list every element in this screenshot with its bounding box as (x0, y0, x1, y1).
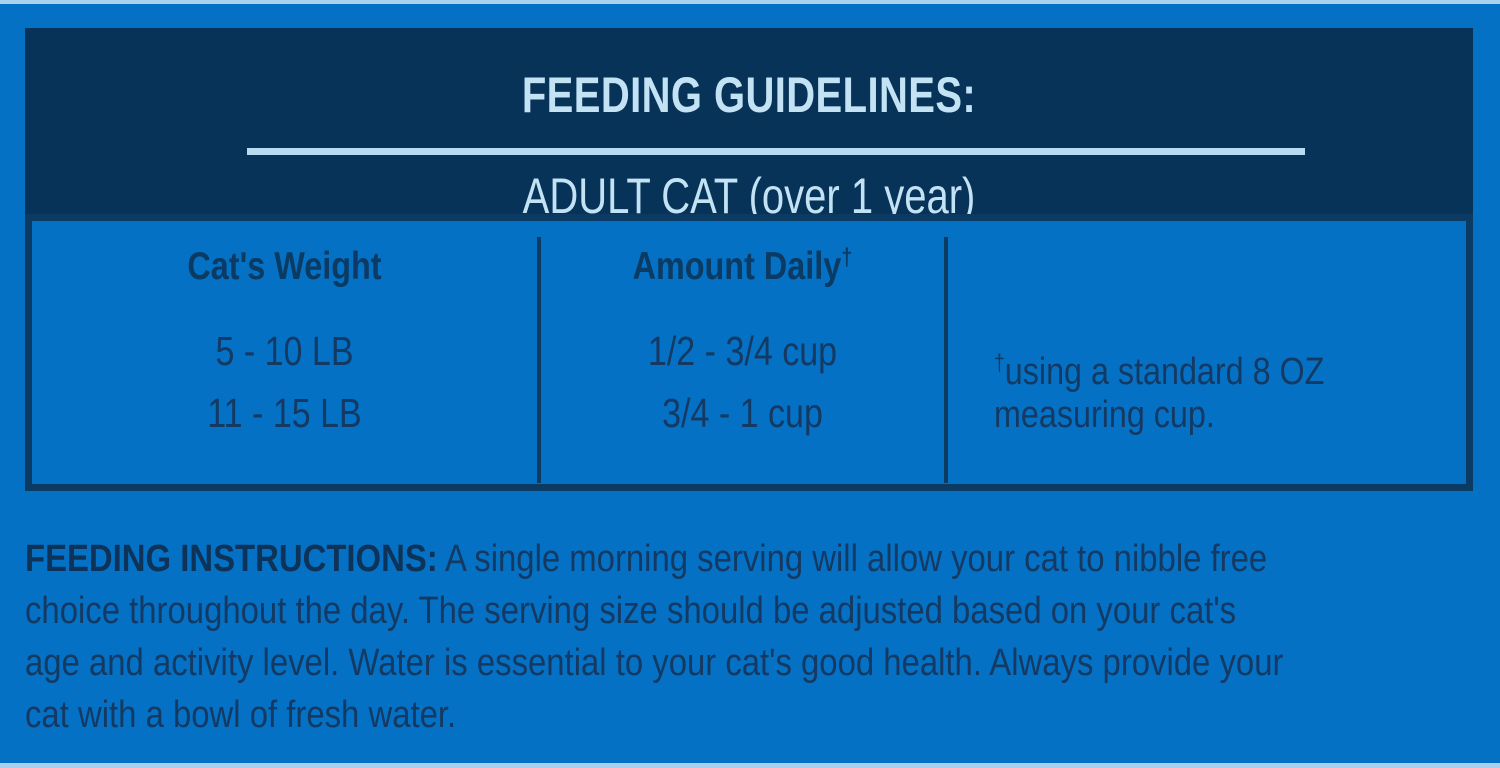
bottom-edge-line (0, 763, 1500, 768)
cell-weight-row-2: 11 - 15 LB (75, 393, 494, 434)
footnote-body: using a standard 8 OZ measuring cup. (994, 351, 1324, 436)
feeding-table: Cat's Weight 5 - 10 LB 11 - 15 LB Amount… (25, 214, 1473, 491)
column-header-cats-weight: Cat's Weight (75, 247, 494, 286)
title-divider-rule (247, 148, 1305, 155)
column-header-amount-daily-text: Amount Daily (633, 245, 842, 288)
footnote-dagger-icon: † (994, 349, 1005, 375)
cell-amount-row-1: 1/2 - 3/4 cup (575, 331, 909, 372)
feeding-instructions-label: FEEDING INSTRUCTIONS: (25, 538, 438, 580)
feeding-instructions-paragraph: FEEDING INSTRUCTIONS: A single morning s… (25, 533, 1284, 741)
column-amount-daily: Amount Daily† 1/2 - 3/4 cup 3/4 - 1 cup (541, 221, 944, 484)
cell-weight-row-1: 5 - 10 LB (75, 331, 494, 372)
column-footnote: †using a standard 8 OZ measuring cup. (948, 221, 1464, 484)
header-block: FEEDING GUIDELINES: ADULT CAT (over 1 ye… (25, 28, 1473, 214)
top-edge-line (0, 0, 1500, 4)
dagger-superscript-icon: † (841, 244, 852, 271)
column-cats-weight: Cat's Weight 5 - 10 LB 11 - 15 LB (32, 221, 537, 484)
cell-amount-row-2: 3/4 - 1 cup (575, 393, 909, 434)
feeding-guidelines-panel: FEEDING GUIDELINES: ADULT CAT (over 1 ye… (0, 0, 1500, 768)
column-header-amount-daily: Amount Daily† (575, 247, 909, 286)
page-title: FEEDING GUIDELINES: (170, 70, 1328, 120)
footnote-text: †using a standard 8 OZ measuring cup. (994, 351, 1368, 438)
